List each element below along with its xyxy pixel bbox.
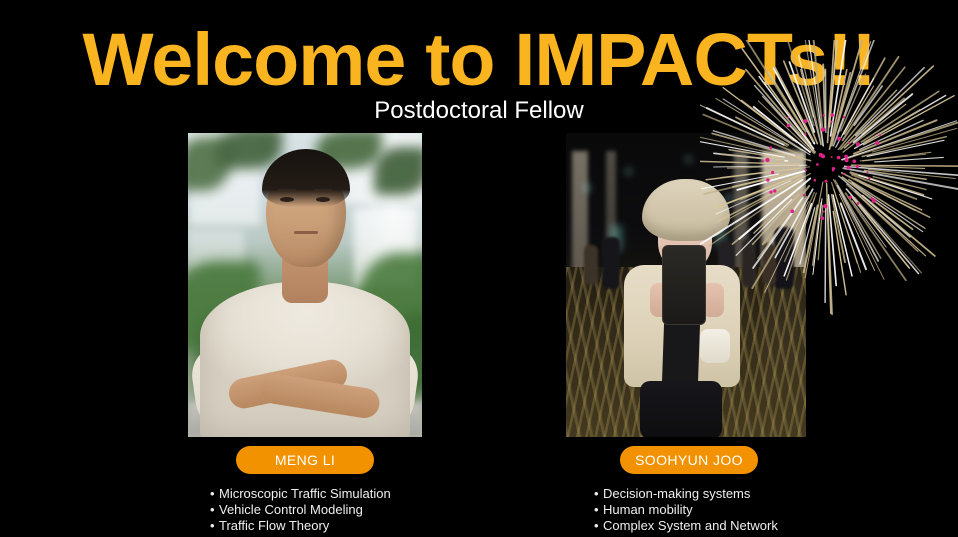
photo-brow-right [314,189,332,192]
photo-eye-right [316,197,330,202]
person-card-soohyun-joo [566,133,806,437]
presentation-slide: Welcome to IMPACTs!! Postdoctoral Fellow [0,0,958,537]
bullet-icon: • [594,486,603,502]
photo-shirt [200,281,410,437]
topic-label: Vehicle Control Modeling [219,502,363,517]
bullet-icon: • [210,518,219,534]
photo-phone [662,245,706,325]
photo-brow-left [278,189,296,192]
list-item: •Complex System and Network [594,518,874,534]
bullet-icon: • [210,502,219,518]
photo-cuff [700,329,730,363]
list-item: •Traffic Flow Theory [210,518,470,534]
topic-list-meng-li: •Microscopic Traffic Simulation •Vehicle… [210,486,470,534]
list-item: •Human mobility [594,502,874,518]
photo-bucket-hat [642,179,730,241]
person-photo-soohyun-joo [566,133,806,437]
topic-list-soohyun-joo: •Decision-making systems •Human mobility… [594,486,874,534]
photo-eye-left [280,197,294,202]
person-photo-meng-li [188,133,422,437]
list-item: •Vehicle Control Modeling [210,502,470,518]
topic-label: Microscopic Traffic Simulation [219,486,391,501]
person-card-meng-li [188,133,422,437]
bullet-icon: • [210,486,219,502]
topic-label: Decision-making systems [603,486,750,501]
list-item: •Decision-making systems [594,486,874,502]
list-item: •Microscopic Traffic Simulation [210,486,470,502]
bullet-icon: • [594,518,603,534]
topic-label: Complex System and Network [603,518,778,533]
page-subtitle: Postdoctoral Fellow [0,96,958,126]
photo-mouth [294,231,318,234]
bullet-icon: • [594,502,603,518]
topic-label: Human mobility [603,502,693,517]
name-badge-meng-li[interactable]: MENG LI [236,446,374,474]
page-title: Welcome to IMPACTs!! [0,18,958,102]
photo-pants [640,381,722,437]
topic-label: Traffic Flow Theory [219,518,329,533]
name-badge-soohyun-joo[interactable]: SOOHYUN JOO [620,446,758,474]
